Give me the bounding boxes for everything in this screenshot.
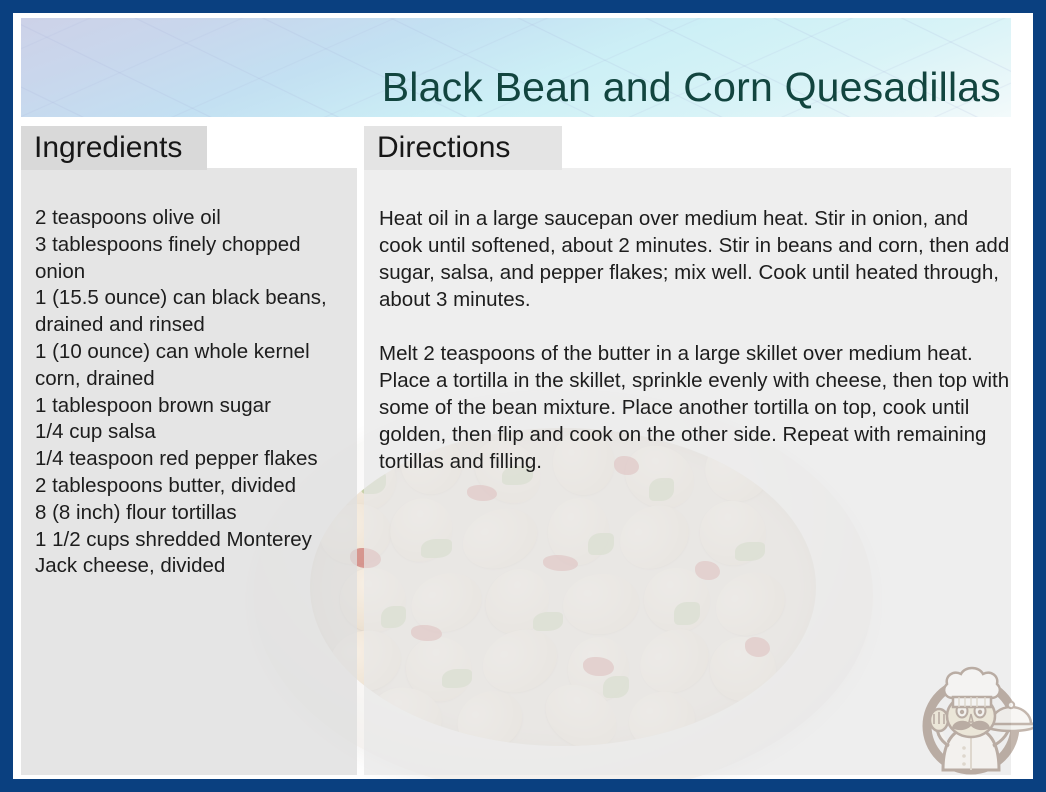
directions-tab: Directions xyxy=(364,126,562,170)
list-item: 1 (10 ounce) can whole kernel xyxy=(35,339,353,366)
ingredients-heading: Ingredients xyxy=(34,133,182,163)
list-item: 2 teaspoons olive oil xyxy=(35,205,353,232)
list-item: 1 tablespoon brown sugar xyxy=(35,393,353,420)
list-item: 1 (15.5 ounce) can black beans, xyxy=(35,285,353,312)
list-item: 3 tablespoons finely chopped xyxy=(35,232,353,259)
list-item: corn, drained xyxy=(35,366,353,393)
chef-mascot-logo xyxy=(909,654,1037,782)
ingredients-list: 2 teaspoons olive oil 3 tablespoons fine… xyxy=(35,205,353,580)
list-item: onion xyxy=(35,259,353,286)
direction-paragraph: Melt 2 teaspoons of the butter in a larg… xyxy=(379,340,1013,475)
direction-paragraph: Heat oil in a large saucepan over medium… xyxy=(379,205,1013,313)
chef-icon xyxy=(909,654,1037,782)
directions-text: Heat oil in a large saucepan over medium… xyxy=(379,205,1013,502)
list-item: 2 tablespoons butter, divided xyxy=(35,473,353,500)
list-item: 1/4 teaspoon red pepper flakes xyxy=(35,446,353,473)
list-item: Jack cheese, divided xyxy=(35,553,353,580)
header-banner: Black Bean and Corn Quesadillas xyxy=(21,18,1011,117)
list-item: 1/4 cup salsa xyxy=(35,419,353,446)
list-item: 1 1/2 cups shredded Monterey xyxy=(35,527,353,554)
recipe-slide: Black Bean and Corn Quesadillas xyxy=(0,0,1046,792)
page-title: Black Bean and Corn Quesadillas xyxy=(382,66,1001,109)
directions-heading: Directions xyxy=(377,133,510,163)
ingredients-tab: Ingredients xyxy=(21,126,207,170)
list-item: drained and rinsed xyxy=(35,312,353,339)
list-item: 8 (8 inch) flour tortillas xyxy=(35,500,353,527)
